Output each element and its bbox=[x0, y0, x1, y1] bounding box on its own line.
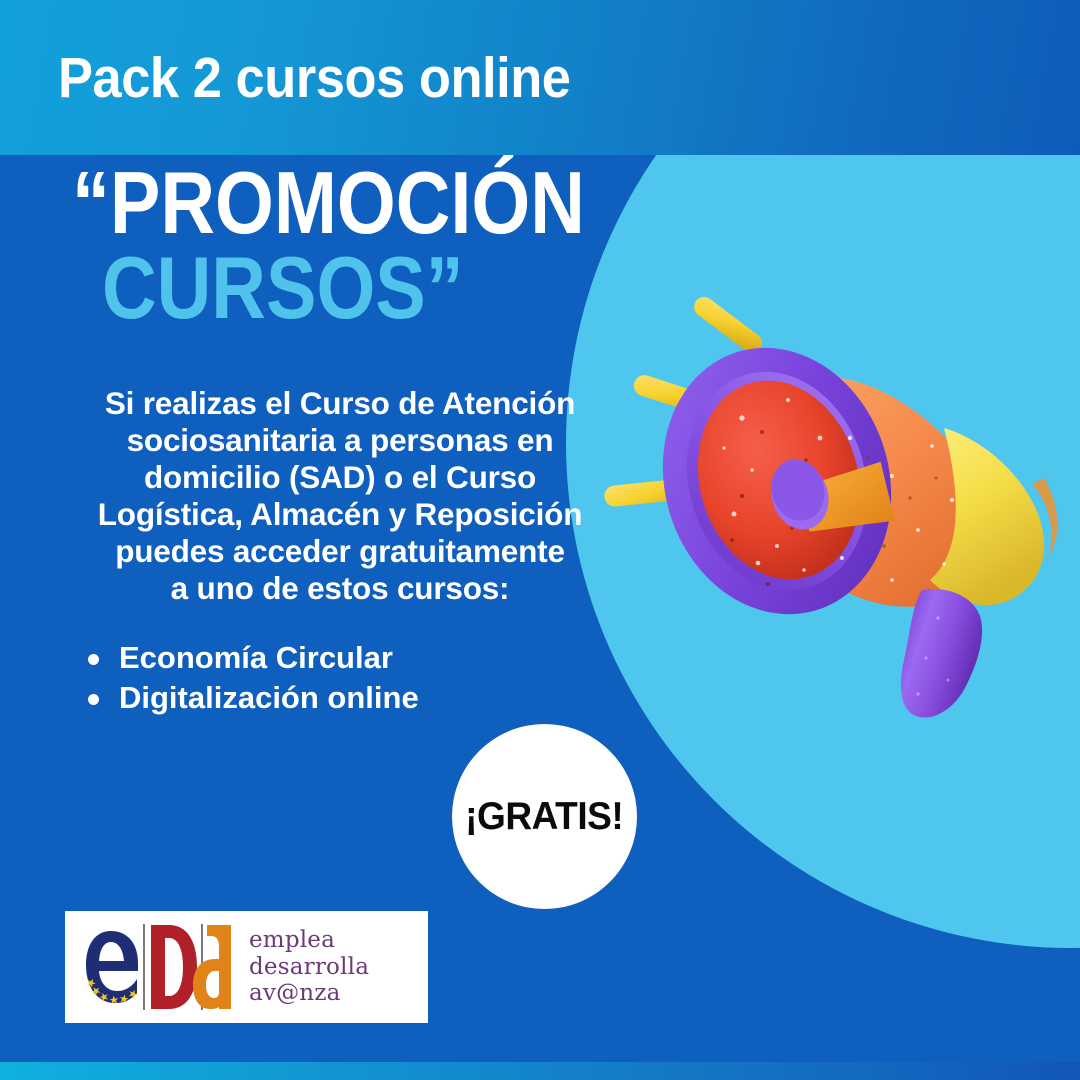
headline-line-1: “PROMOCIÓN bbox=[72, 160, 585, 245]
list-item: Digitalización online bbox=[80, 678, 419, 718]
eda-logo: emplea desarrolla av@nza bbox=[65, 911, 428, 1023]
tagline-line-3: av@nza bbox=[249, 980, 369, 1007]
eda-logo-tagline: emplea desarrolla av@nza bbox=[249, 927, 369, 1008]
logo-letter-D bbox=[151, 925, 197, 1009]
eda-logo-mark bbox=[83, 921, 235, 1013]
promo-poster: Pack 2 cursos online “PROMOCIÓN CURSOS” … bbox=[0, 0, 1080, 1080]
gratis-badge: ¡GRATIS! bbox=[452, 724, 637, 909]
bottom-gradient-strip bbox=[0, 1062, 1080, 1080]
header-band: Pack 2 cursos online bbox=[0, 0, 1080, 155]
tagline-line-1: emplea bbox=[249, 927, 369, 954]
headline-line-2: CURSOS” bbox=[102, 245, 589, 330]
tagline-line-2: desarrolla bbox=[249, 954, 369, 981]
list-item: Economía Circular bbox=[80, 638, 419, 678]
logo-divider-1 bbox=[143, 924, 145, 1010]
header-title: Pack 2 cursos online bbox=[58, 45, 571, 111]
headline-block: “PROMOCIÓN CURSOS” bbox=[72, 160, 668, 331]
gratis-badge-label: ¡GRATIS! bbox=[465, 795, 623, 839]
megaphone-handle bbox=[901, 589, 982, 718]
megaphone-illustration bbox=[592, 288, 1080, 748]
course-bullet-list: Economía Circular Digitalización online bbox=[80, 638, 419, 719]
logo-letter-a bbox=[193, 925, 231, 1009]
body-paragraph: Si realizas el Curso de Atención sociosa… bbox=[40, 385, 640, 607]
